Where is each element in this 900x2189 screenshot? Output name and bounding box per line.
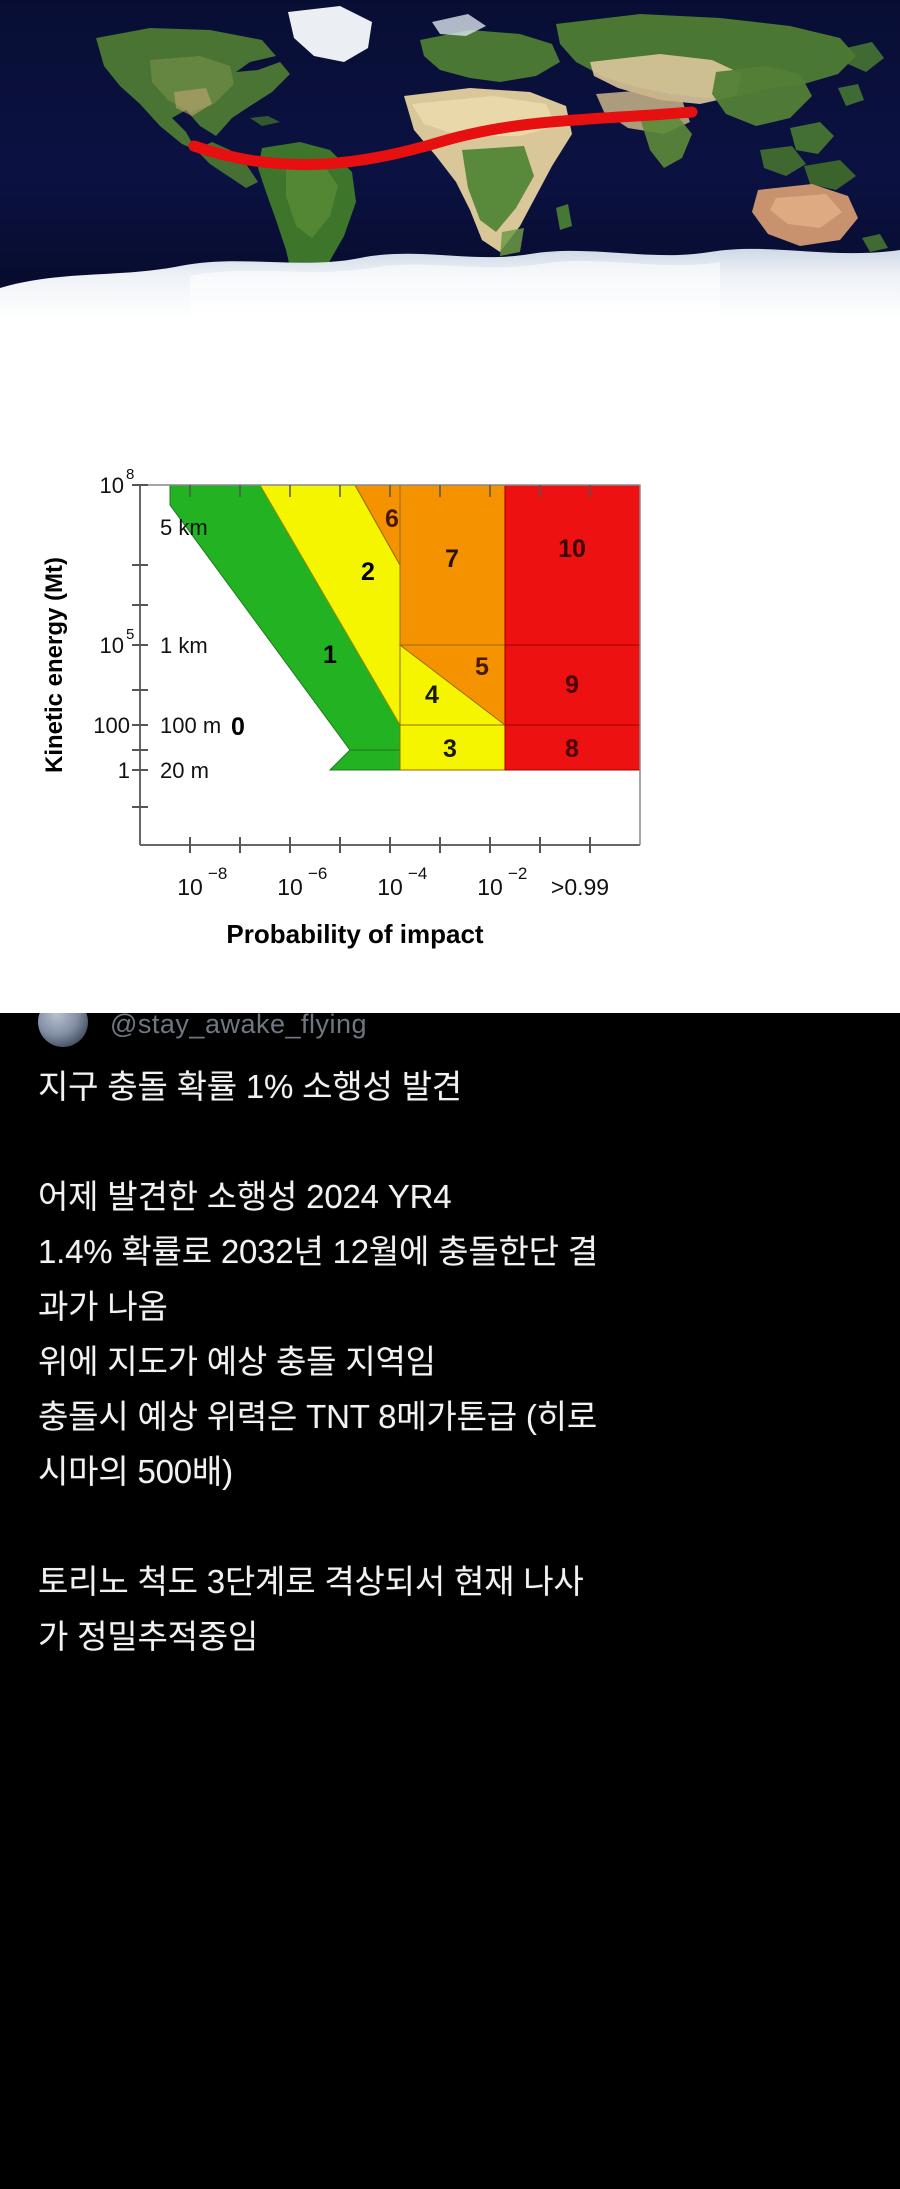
cell-label-5: 5 [475,653,489,681]
y-tick-base-1: 10 [100,633,124,658]
x-tick-exp-2: −4 [408,864,427,883]
cell-label-1: 1 [323,641,337,669]
region-red-level-10 [505,485,640,645]
x-tick-base-4: >0.99 [551,874,609,900]
x-tick-label-group-0: 10 −8 [177,864,227,900]
avatar [38,1013,88,1047]
y-tick-label-group-0: 10 8 [100,466,135,498]
x-tick-base-2: 10 [377,874,403,900]
cell-label-3: 3 [443,735,457,763]
x-tick-label-group-3: 10 −2 [477,864,527,900]
y-size-label-3: 20 m [160,758,209,783]
screenshot-page: 0 1 2 3 4 5 6 7 8 9 10 [0,0,900,2189]
x-tick-label-group-2: 10 −4 [377,864,427,900]
y-tick-exp-1: 5 [126,626,134,643]
y-size-label-1: 1 km [160,633,208,658]
y-size-label-0: 5 km [160,515,208,540]
post-handle: @stay_awake_flying [110,1013,367,1040]
post-line-9: 토리노 척도 3단계로 격상되서 현재 나사 [38,1554,868,1609]
post-line-5: 위에 지도가 예상 충돌 지역임 [38,1334,868,1389]
y-tick-label-group-1: 10 5 [100,626,135,658]
x-tick-exp-0: −8 [208,864,227,883]
x-tick-label-group-1: 10 −6 [277,864,327,900]
post-line-2: 어제 발견한 소행성 2024 YR4 [38,1169,868,1224]
post-line-8 [38,1499,868,1554]
cell-label-2: 2 [361,558,375,586]
y-tick-exp-0: 8 [126,466,134,483]
post-line-7: 시마의 500배) [38,1444,868,1499]
x-tick-exp-1: −6 [308,864,327,883]
world-map-image [0,0,900,315]
cell-label-0: 0 [231,713,245,741]
y-tick-base-3: 1 [118,758,130,783]
y-tick-base-2: 100 [93,713,130,738]
x-tick-exp-3: −2 [508,864,527,883]
post-header: @stay_awake_flying [0,1013,900,1047]
korean-post-section: @stay_awake_flying 지구 충돌 확률 1% 소행성 발견 어제… [0,1013,900,2189]
post-body: 지구 충돌 확률 1% 소행성 발견 어제 발견한 소행성 2024 YR4 1… [38,1059,868,1664]
post-line-4: 과가 나옴 [38,1279,868,1334]
cell-label-6: 6 [385,505,399,533]
world-map-section [0,0,900,315]
cell-label-7: 7 [445,545,459,573]
x-tick-base-1: 10 [277,874,303,900]
post-line-0: 지구 충돌 확률 1% 소행성 발견 [38,1059,868,1114]
post-line-3: 1.4% 확률로 2032년 12월에 충돌한단 결 [38,1224,868,1279]
post-line-10: 가 정밀추적중임 [38,1609,868,1664]
cell-label-8: 8 [565,735,579,763]
cell-label-10: 10 [558,535,586,563]
world-map-canvas [0,0,900,315]
post-line-6: 충돌시 예상 위력은 TNT 8메가톤급 (히로 [38,1389,868,1444]
x-axis-title: Probability of impact [226,919,483,949]
cell-label-4: 4 [425,681,439,709]
y-axis-title: Kinetic energy (Mt) [41,557,68,773]
cell-label-9: 9 [565,671,579,699]
y-tick-base-0: 10 [100,473,124,498]
x-tick-base-0: 10 [177,874,203,900]
post-line-1 [38,1114,868,1169]
x-tick-base-3: 10 [477,874,503,900]
y-size-label-2: 100 m [160,713,221,738]
